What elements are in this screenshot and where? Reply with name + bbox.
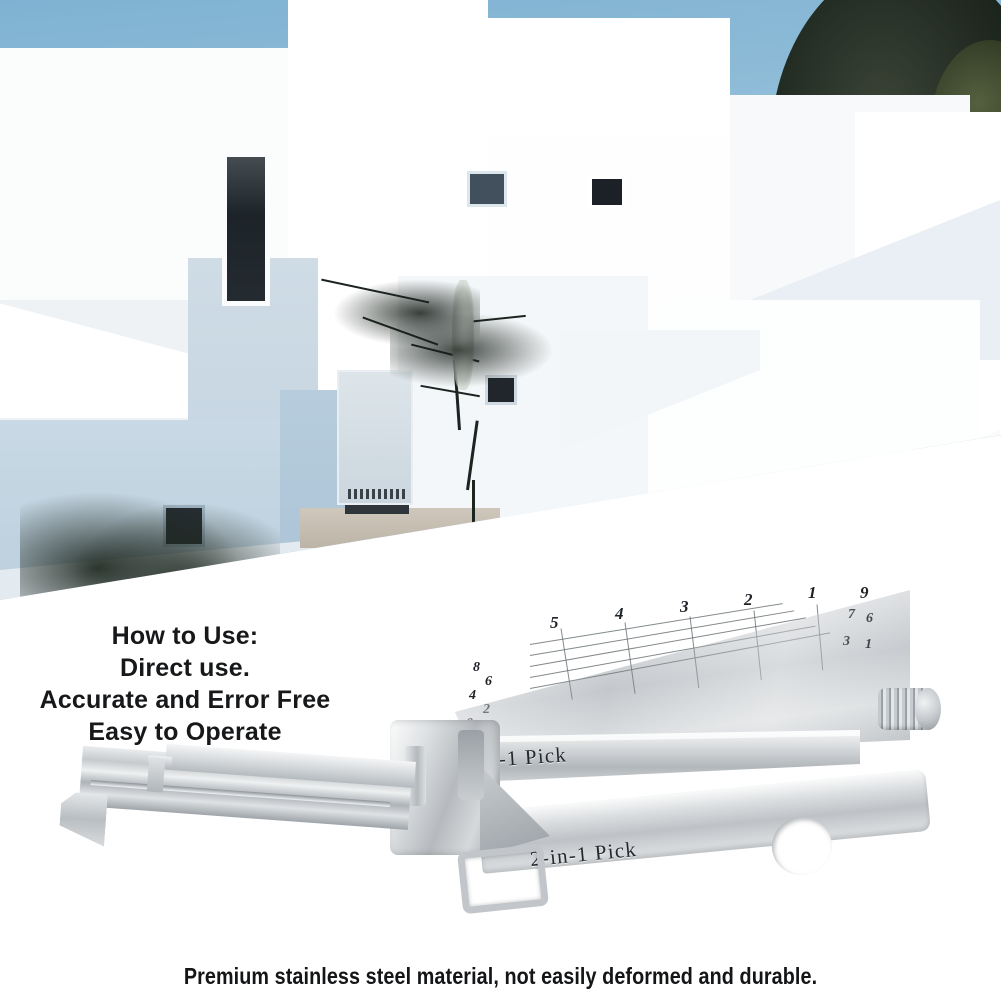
product-caption: Premium stainless steel material, not ea…	[70, 963, 931, 990]
body-notch	[458, 730, 484, 800]
scale-number-top-5: 5	[550, 613, 559, 633]
courtyard-tree	[400, 300, 600, 550]
tall-window	[222, 152, 270, 306]
scale-number-right-1: 1	[865, 637, 872, 653]
pick-tip	[58, 791, 108, 846]
scale-number-right-6: 6	[866, 611, 873, 627]
pick-hook-tab	[147, 757, 165, 792]
pivot-clasp	[457, 844, 549, 915]
scale-number-top-1: 1	[808, 583, 817, 603]
lock-pick-tool: 2-in-1 Pick 5 4 3 2 1 8 6 4 2 0 9 7 6 3 …	[60, 580, 940, 940]
door-vent-grill	[348, 489, 406, 499]
scale-number-right-3: 3	[843, 634, 850, 650]
scale-number-right-9: 9	[860, 583, 869, 603]
scale-number-left-8: 8	[473, 660, 480, 676]
architecture-photo	[0, 0, 1001, 610]
scale-number-right-7: 7	[848, 607, 855, 623]
knob-end-cap[interactable]	[915, 688, 941, 730]
square-window-right	[588, 175, 626, 209]
scale-number-left-2: 2	[483, 702, 490, 718]
scale-number-left-4: 4	[469, 688, 476, 704]
scale-number-top-2: 2	[744, 590, 753, 610]
scale-number-top-3: 3	[680, 597, 689, 617]
scale-number-top-4: 4	[615, 604, 624, 624]
product-image-page: How to Use: Direct use. Accurate and Err…	[0, 0, 1001, 1001]
square-window-left	[467, 171, 507, 207]
scale-number-left-6: 6	[485, 674, 492, 690]
